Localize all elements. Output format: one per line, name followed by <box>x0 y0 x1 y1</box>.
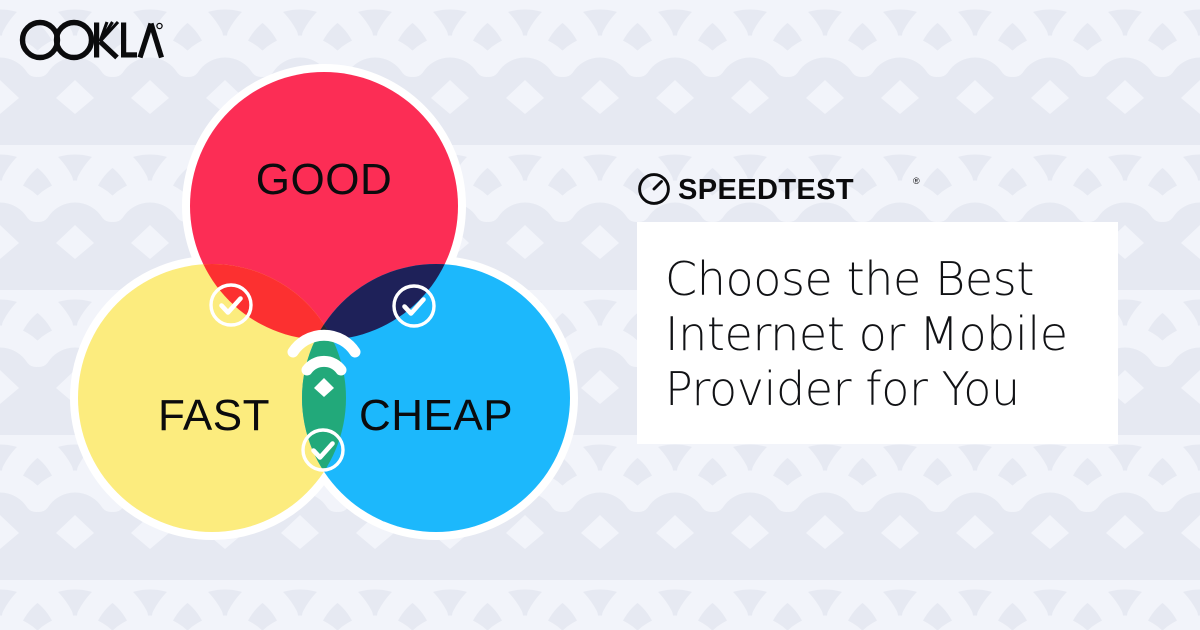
right-content-column: SPEEDTEST ® Choose the Best Internet or … <box>637 172 1127 444</box>
speedtest-trademark-icon: ® <box>913 176 920 186</box>
page-title: Choose the Best Internet or Mobile Provi… <box>665 252 1090 418</box>
speedometer-icon <box>640 175 669 204</box>
ookla-logo[interactable] <box>18 18 164 62</box>
ookla-wordmark <box>23 23 92 58</box>
speedtest-logo[interactable]: SPEEDTEST ® <box>637 172 923 206</box>
ookla-l-glyph <box>121 23 137 58</box>
venn-label-fast: FAST <box>158 391 270 440</box>
ookla-k-glyph <box>94 22 118 58</box>
headline-card: Choose the Best Internet or Mobile Provi… <box>637 222 1118 444</box>
venn-diagram: GOOD FAST CHEAP <box>48 58 600 570</box>
venn-label-cheap: CHEAP <box>359 391 513 440</box>
ookla-trademark-icon <box>157 23 162 28</box>
speedtest-wordmark: SPEEDTEST <box>678 174 854 206</box>
venn-label-good: GOOD <box>256 155 392 204</box>
